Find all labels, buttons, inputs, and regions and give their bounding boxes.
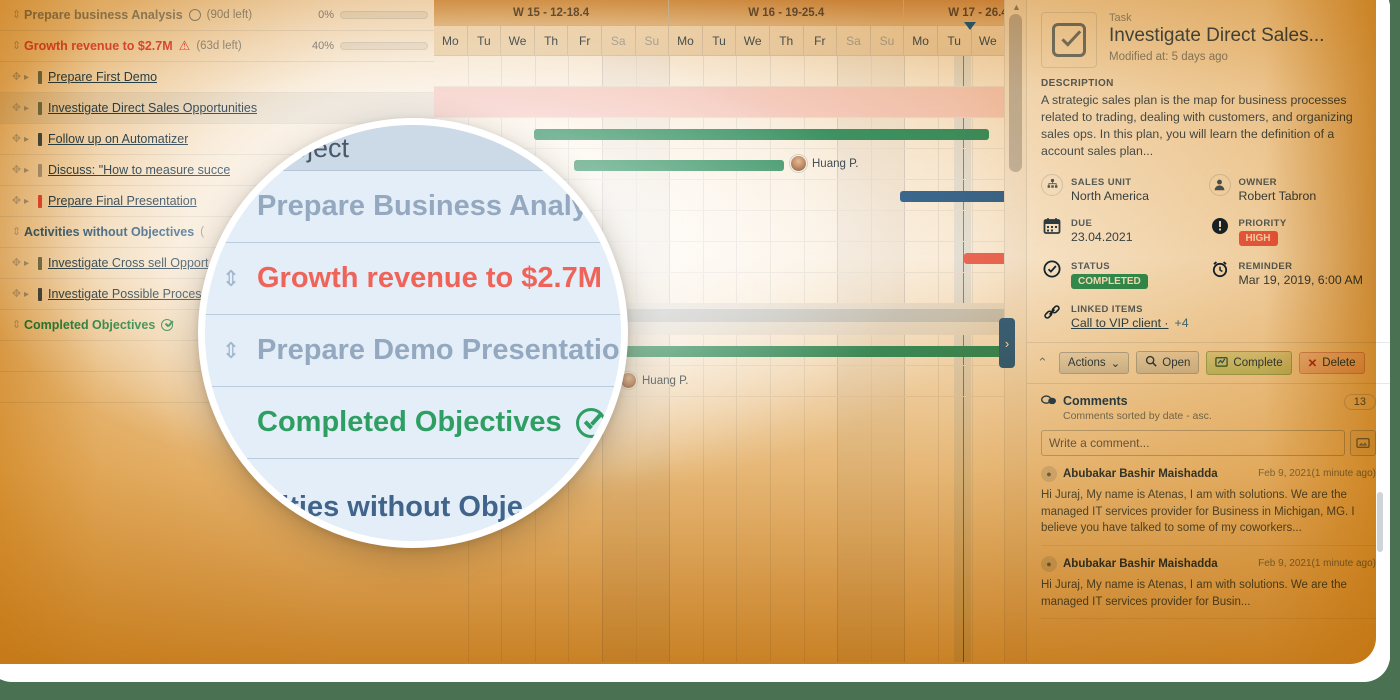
gantt-day-header: Mo Tu We Th Fr Sa Su Mo Tu We Th Fr Sa S… xyxy=(434,26,1004,56)
magnifier-content: Subject Prepare Business Analysis ⇕ Grow… xyxy=(205,125,628,548)
field-sales-unit[interactable]: SALES UNIT North America xyxy=(1041,174,1209,203)
day-cell: Mo xyxy=(434,26,468,56)
magnified-row: ⇕ Prepare Demo Presentation xyxy=(205,315,628,387)
scrollbar-thumb[interactable] xyxy=(1009,14,1022,172)
priority-bar-icon xyxy=(38,71,42,84)
open-button[interactable]: Open xyxy=(1136,351,1199,374)
magnified-row-text: Prepare Demo Presentation xyxy=(257,334,628,367)
field-owner[interactable]: OWNER Robert Tabron xyxy=(1209,174,1377,203)
magnified-row: Completed Objectives xyxy=(205,387,628,459)
priority-bar-icon xyxy=(38,133,42,146)
description-text: A strategic sales plan is the map for bu… xyxy=(1041,92,1376,160)
group-name[interactable]: Completed Objectives xyxy=(24,318,155,332)
expander-icon[interactable]: ▸ xyxy=(24,72,38,83)
field-label: PRIORITY xyxy=(1239,218,1287,229)
magnified-row-text: Growth revenue to $2.7M xyxy=(257,262,602,295)
objective-meta: (63d left) xyxy=(196,40,241,52)
comment-head: ● Abubakar Bashir Maishadda Feb 9, 2021(… xyxy=(1041,466,1376,482)
comment-date: Feb 9, 2021(1 minute ago) xyxy=(1258,558,1376,569)
field-label: REMINDER xyxy=(1239,261,1293,272)
task-row[interactable]: ✥ ▸ Prepare First Demo xyxy=(0,62,434,93)
linked-item-link[interactable]: Call to VIP client · xyxy=(1071,316,1169,330)
comment-author: Abubakar Bashir Maishadda xyxy=(1063,468,1218,480)
comments-header: Comments Comments sorted by date - asc. … xyxy=(1041,394,1376,422)
expander-icon[interactable]: ▸ xyxy=(24,289,38,300)
ring-check-icon xyxy=(576,408,606,438)
field-priority[interactable]: PRIORITY HIGH xyxy=(1209,215,1377,246)
field-row: STATUS COMPLETED REMINDER Mar 19, 2019, … xyxy=(1041,258,1376,289)
progress-percent: 0% xyxy=(318,9,334,21)
warning-icon: ⚠ xyxy=(179,38,191,54)
avatar: ● xyxy=(1041,466,1057,482)
panel-collapse-toggle[interactable]: › xyxy=(999,318,1015,368)
task-row-objective-1[interactable]: ⇕ Prepare business Analysis (90d left) 0… xyxy=(0,0,434,31)
drag-handle-icon[interactable]: ✥ xyxy=(8,134,24,145)
complete-button[interactable]: Complete xyxy=(1206,351,1291,375)
description-block: DESCRIPTION A strategic sales plan is th… xyxy=(1027,76,1390,170)
gantt-week-header: W 15 - 12-18.4 W 16 - 19-25.4 W 17 - 26.… xyxy=(434,0,1004,26)
attach-icon[interactable] xyxy=(1350,430,1376,456)
group-name[interactable]: Activities without Objectives xyxy=(24,225,194,239)
collapse-caret-icon[interactable]: ⌃ xyxy=(1037,355,1048,371)
objective-name[interactable]: Prepare business Analysis xyxy=(24,8,183,22)
objective-meta: (90d left) xyxy=(207,9,252,21)
comments-subtitle: Comments sorted by date - asc. xyxy=(1063,410,1212,422)
day-cell: Tu xyxy=(938,26,972,56)
drag-handle-icon[interactable]: ✥ xyxy=(8,103,24,114)
priority-bar-icon xyxy=(38,257,42,270)
day-cell: Mo xyxy=(669,26,703,56)
task-row-objective-2[interactable]: ⇕ Growth revenue to $2.7M ⚠ (63d left) 4… xyxy=(0,31,434,62)
progress-track xyxy=(340,42,428,50)
check-circle-icon xyxy=(1041,258,1063,280)
exclamation-icon xyxy=(1209,215,1231,237)
field-label: STATUS xyxy=(1071,261,1110,272)
gantt-row-highlight xyxy=(434,87,1004,118)
comments-section: Comments Comments sorted by date - asc. … xyxy=(1027,383,1390,619)
close-x-icon: ✕ xyxy=(1308,356,1318,370)
week-label: W 15 - 12-18.4 xyxy=(434,0,669,26)
detail-header: Task Investigate Direct Sales... Modifie… xyxy=(1027,0,1390,76)
day-cell: Tu xyxy=(468,26,502,56)
actions-button-label: Actions xyxy=(1068,357,1106,369)
field-label: DUE xyxy=(1071,218,1092,229)
linked-items-more[interactable]: +4 xyxy=(1175,316,1189,330)
gantt-bar[interactable] xyxy=(964,253,1004,264)
assignee-name: Huang P. xyxy=(642,375,688,387)
today-marker-icon xyxy=(964,22,976,30)
field-label: SALES UNIT xyxy=(1071,177,1131,188)
status-ring-icon xyxy=(189,9,201,21)
magnifier-lens: Subject Prepare Business Analysis ⇕ Grow… xyxy=(198,118,628,548)
drag-handle-icon[interactable]: ✥ xyxy=(8,72,24,83)
task-name[interactable]: Investigate Possible Process xyxy=(48,287,208,301)
complete-button-label: Complete xyxy=(1233,357,1282,369)
objective-name[interactable]: Growth revenue to $2.7M xyxy=(24,39,173,53)
comment-date: Feb 9, 2021(1 minute ago) xyxy=(1258,468,1376,479)
field-value: North America xyxy=(1071,189,1149,203)
day-cell: Tu xyxy=(703,26,737,56)
description-label: DESCRIPTION xyxy=(1041,78,1376,89)
check-circle-icon xyxy=(161,319,173,331)
drag-handle-icon[interactable]: ✥ xyxy=(8,196,24,207)
gantt-assignee: Huang P. xyxy=(620,372,688,389)
assignee-name: Huang P. xyxy=(812,158,858,170)
calendar-icon xyxy=(1041,215,1063,237)
comment-bubble-icon xyxy=(1041,394,1057,410)
chevron-down-icon: ⌄ xyxy=(1111,356,1121,370)
field-row: DUE 23.04.2021 PRIORITY HIGH xyxy=(1041,215,1376,246)
delete-button[interactable]: ✕ Delete xyxy=(1299,352,1365,374)
gantt-assignee: Huang P. xyxy=(790,155,858,172)
group-meta: ( xyxy=(200,226,204,238)
priority-bar-icon xyxy=(38,288,42,301)
link-icon xyxy=(1041,301,1063,323)
task-type-icon xyxy=(1041,12,1097,68)
comment-body: Hi Juraj, My name is Atenas, I am with s… xyxy=(1041,577,1376,610)
detail-action-bar: ⌃ Actions ⌄ Open xyxy=(1027,342,1390,383)
expander-icon[interactable]: ▸ xyxy=(24,258,38,269)
day-cell: We xyxy=(972,26,1005,56)
field-due[interactable]: DUE 23.04.2021 xyxy=(1041,215,1209,246)
comment-item: ● Abubakar Bashir Maishadda Feb 9, 2021(… xyxy=(1041,456,1376,546)
gantt-bar[interactable] xyxy=(576,346,1004,357)
person-icon xyxy=(1209,174,1231,196)
task-name[interactable]: Discuss: "How to measure succe xyxy=(48,163,230,177)
field-row: SALES UNIT North America OWNER Robert Ta… xyxy=(1041,174,1376,203)
day-cell-weekend: Sa xyxy=(837,26,871,56)
field-linked-items[interactable]: LINKED ITEMS Call to VIP client ·+4 xyxy=(1041,301,1376,330)
delete-button-label: Delete xyxy=(1322,357,1355,369)
magnified-row-text: Prepare Business Analysis xyxy=(257,190,628,223)
actions-button[interactable]: Actions ⌄ xyxy=(1059,352,1129,374)
priority-bar-icon xyxy=(38,195,42,208)
magnifier-icon xyxy=(1145,355,1157,370)
task-detail-panel: Task Investigate Direct Sales... Modifie… xyxy=(1026,0,1390,662)
gantt-row xyxy=(434,56,1004,87)
day-cell: Fr xyxy=(568,26,602,56)
expander-icon[interactable]: ▸ xyxy=(24,134,38,145)
day-cell: We xyxy=(736,26,770,56)
field-row: LINKED ITEMS Call to VIP client ·+4 xyxy=(1041,301,1376,330)
drag-handle-icon[interactable]: ✥ xyxy=(8,289,24,300)
field-value: Mar 19, 2019, 6:00 AM xyxy=(1239,273,1363,287)
magnified-column-header: Subject xyxy=(205,125,628,171)
alarm-icon xyxy=(1209,258,1231,280)
open-button-label: Open xyxy=(1162,357,1190,369)
comment-input-row xyxy=(1041,430,1376,456)
gantt-bar[interactable] xyxy=(900,191,1004,202)
drag-handle-icon[interactable]: ✥ xyxy=(8,165,24,176)
drag-handle-icon[interactable]: ⇕ xyxy=(8,41,24,52)
avatar: ● xyxy=(1041,556,1057,572)
day-cell: Th xyxy=(535,26,569,56)
comment-input[interactable] xyxy=(1041,430,1345,456)
field-value: Robert Tabron xyxy=(1239,189,1317,203)
detail-fields: SALES UNIT North America OWNER Robert Ta… xyxy=(1027,170,1390,342)
comment-head: ● Abubakar Bashir Maishadda Feb 9, 2021(… xyxy=(1041,556,1376,572)
magnified-row: ⇕ Growth revenue to $2.7M ⚠ xyxy=(205,243,628,315)
task-name[interactable]: Investigate Direct Sales Opportunities xyxy=(48,101,257,115)
day-cell: We xyxy=(501,26,535,56)
day-cell-weekend: Sa xyxy=(602,26,636,56)
magnified-row-text: Completed Objectives xyxy=(257,406,562,439)
field-label: OWNER xyxy=(1239,177,1277,188)
comments-count-badge: 13 xyxy=(1344,394,1376,410)
day-cell: Th xyxy=(770,26,804,56)
avatar xyxy=(790,155,807,172)
day-cell-weekend: Su xyxy=(636,26,670,56)
drag-handle-icon[interactable]: ⇕ xyxy=(8,10,24,21)
drag-handle-icon: ⇕ xyxy=(205,340,257,362)
priority-badge: HIGH xyxy=(1239,231,1278,246)
task-name[interactable]: Prepare First Demo xyxy=(48,70,157,84)
drag-handle-icon[interactable]: ⇕ xyxy=(8,227,24,238)
priority-bar-icon xyxy=(38,102,42,115)
progress-percent: 40% xyxy=(312,40,334,52)
status-badge: COMPLETED xyxy=(1071,274,1148,289)
priority-bar-icon xyxy=(38,164,42,177)
field-status[interactable]: STATUS COMPLETED xyxy=(1041,258,1209,289)
day-cell: Fr xyxy=(804,26,838,56)
progress-track xyxy=(340,11,428,19)
drag-handle-icon: ⇕ xyxy=(205,268,257,290)
task-name[interactable]: Investigate Cross sell Opport xyxy=(48,256,209,270)
expander-icon[interactable]: ▸ xyxy=(24,165,38,176)
week-label: W 17 - 26.4-2.5 xyxy=(904,0,1004,26)
detail-kicker: Task xyxy=(1109,12,1376,24)
comments-title: Comments xyxy=(1063,394,1212,408)
modified-at: Modified at: 5 days ago xyxy=(1109,51,1376,63)
comment-item: ● Abubakar Bashir Maishadda Feb 9, 2021(… xyxy=(1041,546,1376,619)
week-label: W 16 - 19-25.4 xyxy=(669,0,904,26)
field-label: LINKED ITEMS xyxy=(1071,304,1143,315)
magnified-row-text: ivities without Obje xyxy=(257,491,523,524)
field-value: 23.04.2021 xyxy=(1071,230,1133,244)
drag-handle-icon[interactable]: ⇕ xyxy=(8,320,24,331)
magnified-row: ivities without Obje xyxy=(205,459,628,548)
drag-handle-icon[interactable]: ✥ xyxy=(8,258,24,269)
page-title: Investigate Direct Sales... xyxy=(1109,25,1376,47)
day-cell-weekend: Su xyxy=(871,26,905,56)
complete-icon xyxy=(1215,355,1228,371)
comment-body: Hi Juraj, My name is Atenas, I am with s… xyxy=(1041,487,1376,537)
field-reminder[interactable]: REMINDER Mar 19, 2019, 6:00 AM xyxy=(1209,258,1377,289)
comment-author: Abubakar Bashir Maishadda xyxy=(1063,558,1218,570)
task-row-selected[interactable]: ✥ ▸ Investigate Direct Sales Opportuniti… xyxy=(0,93,434,124)
expander-icon[interactable]: ▸ xyxy=(24,196,38,207)
org-icon xyxy=(1041,174,1063,196)
expander-icon[interactable]: ▸ xyxy=(24,103,38,114)
screenshot-stage: ⇕ Prepare business Analysis (90d left) 0… xyxy=(0,0,1400,700)
magnified-row: Prepare Business Analysis xyxy=(205,171,628,243)
comments-scrollbar-thumb[interactable] xyxy=(1377,492,1383,552)
task-name[interactable]: Prepare Final Presentation xyxy=(48,194,197,208)
task-name[interactable]: Follow up on Automatizer xyxy=(48,132,188,146)
day-cell: Mo xyxy=(904,26,938,56)
scroll-up-arrow-icon[interactable]: ▲ xyxy=(1012,2,1021,12)
gantt-bar[interactable] xyxy=(574,309,1004,322)
